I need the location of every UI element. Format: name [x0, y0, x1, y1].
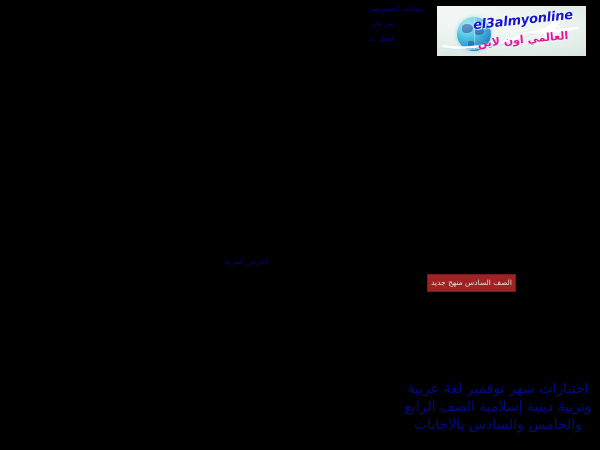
- site-logo-banner[interactable]: el3almyonline العالمي اون لاين: [437, 6, 586, 56]
- nav-link-privacy-policy[interactable]: سياسة الخصوصية: [370, 2, 432, 17]
- page-root: سياسة الخصوصية من نحن اتصل بنا el3almyon…: [0, 0, 600, 450]
- middle-more-link[interactable]: اعرض المزيد: [210, 255, 282, 269]
- site-header: سياسة الخصوصية من نحن اتصل بنا el3almyon…: [0, 0, 600, 62]
- nav-link-about-us[interactable]: من نحن: [370, 17, 432, 32]
- headline-line-1: اختبارات شهر نوفمبر لغة عربية: [400, 380, 596, 398]
- bottom-headline: اختبارات شهر نوفمبر لغة عربية وتربية دين…: [400, 380, 596, 434]
- nav-link-contact-us[interactable]: اتصل بنا: [370, 32, 432, 47]
- headline-line-2: وتربية دينية إسلامية الصف الرابع: [400, 398, 596, 416]
- header-nav: سياسة الخصوصية من نحن اتصل بنا: [370, 2, 432, 47]
- headline-line-3: والخامس والسادس بالاجابات: [400, 416, 596, 434]
- grade-six-new-curriculum-button[interactable]: الصف السادس منهج جديد: [427, 274, 516, 292]
